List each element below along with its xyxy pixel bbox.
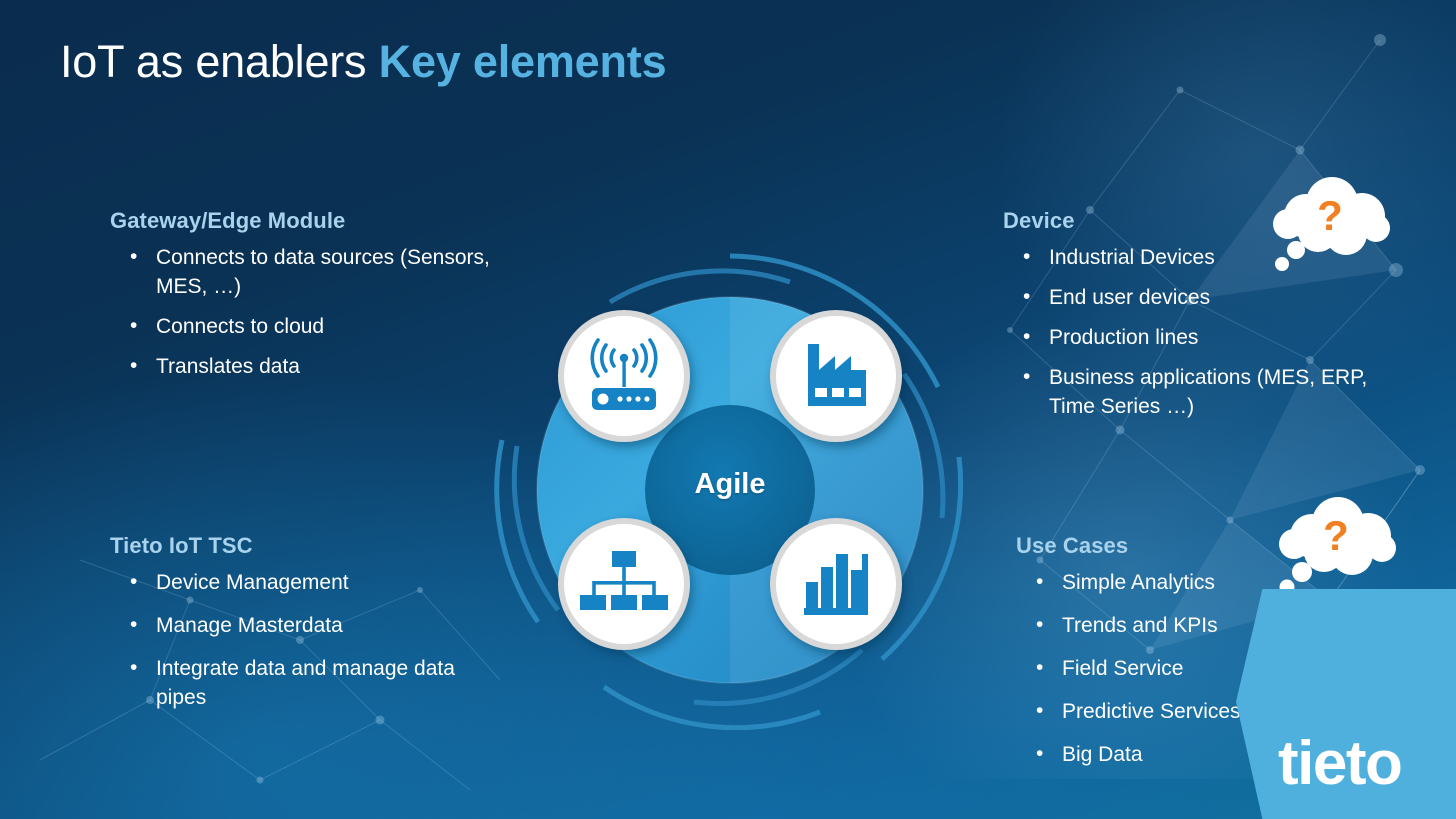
bullet-list-gateway: Connects to data sources (Sensors, MES, … <box>110 244 510 382</box>
section-tieto-iot-tsc: Tieto IoT TSC Device Management Manage M… <box>110 533 510 727</box>
logo-wordmark: tieto <box>1278 733 1401 795</box>
question-mark-glyph: ? <box>1317 192 1343 239</box>
list-item: End user devices <box>1003 284 1403 313</box>
list-item: Production lines <box>1003 324 1403 353</box>
title-accent-part: Key elements <box>379 36 667 87</box>
section-heading-tsc: Tieto IoT TSC <box>110 533 510 559</box>
list-item: Connects to cloud <box>110 313 510 342</box>
list-item: Business applications (MES, ERP, Time Se… <box>1003 364 1403 422</box>
central-circular-diagram: Agile <box>490 250 970 730</box>
thought-bubble-device: ? <box>1258 176 1398 286</box>
section-heading-gateway: Gateway/Edge Module <box>110 208 510 234</box>
list-item: Connects to data sources (Sensors, MES, … <box>110 244 510 302</box>
title-plain-part: IoT as enablers <box>60 36 379 87</box>
list-item: Device Management <box>110 569 510 598</box>
slide-canvas: IoT as enablers Key elements Gateway/Edg… <box>0 0 1456 819</box>
question-mark-glyph: ? <box>1323 512 1349 559</box>
slide-title: IoT as enablers Key elements <box>60 38 666 87</box>
list-item: Translates data <box>110 353 510 382</box>
tieto-logo: tieto <box>1236 589 1456 819</box>
list-item: Integrate data and manage data pipes <box>110 655 510 713</box>
list-item: Manage Masterdata <box>110 612 510 641</box>
bullet-list-tsc: Device Management Manage Masterdata Inte… <box>110 569 510 713</box>
section-gateway-edge-module: Gateway/Edge Module Connects to data sou… <box>110 208 510 393</box>
